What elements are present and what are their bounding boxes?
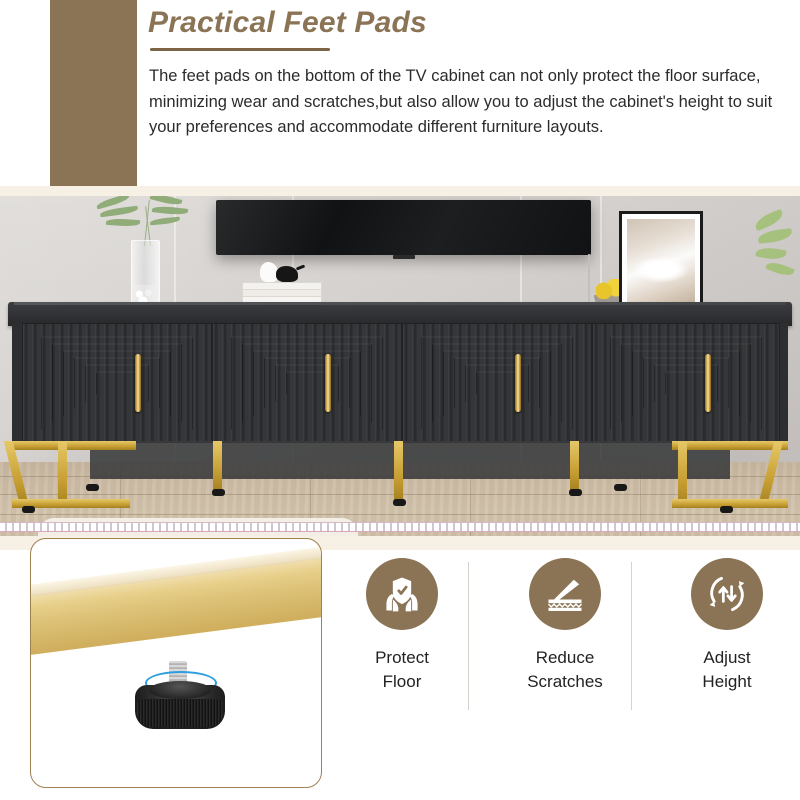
feet-pad-cap <box>149 681 211 699</box>
cabinet-door[interactable] <box>212 323 402 443</box>
wall-mounted-tv <box>216 200 591 255</box>
feature-protect-floor: Protect Floor <box>327 558 477 694</box>
title-underline-rule <box>150 48 330 51</box>
artwork-canvas <box>627 219 695 311</box>
feature-adjust-height: Adjust Height <box>652 558 800 694</box>
feature-label-line2: Floor <box>327 670 477 694</box>
door-handle[interactable] <box>515 354 521 412</box>
feature-label-line2: Scratches <box>490 670 640 694</box>
cabinet-plinth <box>90 441 730 479</box>
door-handle[interactable] <box>325 354 331 412</box>
header-accent-bar <box>50 0 137 186</box>
feature-label-line1: Adjust <box>652 646 800 670</box>
feature-label-line1: Reduce <box>490 646 640 670</box>
feature-icon-circle <box>529 558 601 630</box>
feature-section: Protect Floor Reduce Scratches <box>0 550 800 800</box>
feet-pad-knurling <box>137 699 223 727</box>
adjust-height-icon <box>705 572 749 616</box>
door-handle[interactable] <box>705 354 711 412</box>
shield-hands-icon <box>380 572 424 616</box>
product-photo <box>0 196 800 536</box>
decor-book-stack <box>242 282 320 302</box>
feet-pad-closeup-inset <box>30 538 322 788</box>
feature-label-line1: Protect <box>327 646 477 670</box>
feature-reduce-scratches: Reduce Scratches <box>490 558 640 694</box>
decor-plant-right <box>752 210 800 290</box>
feature-label-line2: Height <box>652 670 800 694</box>
header-text-block: Practical Feet Pads The feet pads on the… <box>148 0 788 186</box>
feature-icon-circle <box>366 558 438 630</box>
measuring-tape-line <box>0 531 800 532</box>
cabinet-door[interactable] <box>592 323 780 443</box>
header-body-text: The feet pads on the bottom of the TV ca… <box>149 64 789 141</box>
product-feature-page: Practical Feet Pads The feet pads on the… <box>0 0 800 800</box>
feature-icon-circle <box>691 558 763 630</box>
photo-top-band <box>0 186 800 196</box>
header-section: Practical Feet Pads The feet pads on the… <box>0 0 800 186</box>
tv-logo <box>393 255 415 259</box>
tv-screen-sheen <box>216 200 591 255</box>
cabinet-door[interactable] <box>22 323 212 443</box>
black-bird-figurine <box>276 266 298 282</box>
page-title: Practical Feet Pads <box>148 6 427 40</box>
plank-scratch-icon <box>543 572 587 616</box>
cabinet-door[interactable] <box>402 323 592 443</box>
door-handle[interactable] <box>135 354 141 412</box>
cabinet-body <box>12 323 788 441</box>
